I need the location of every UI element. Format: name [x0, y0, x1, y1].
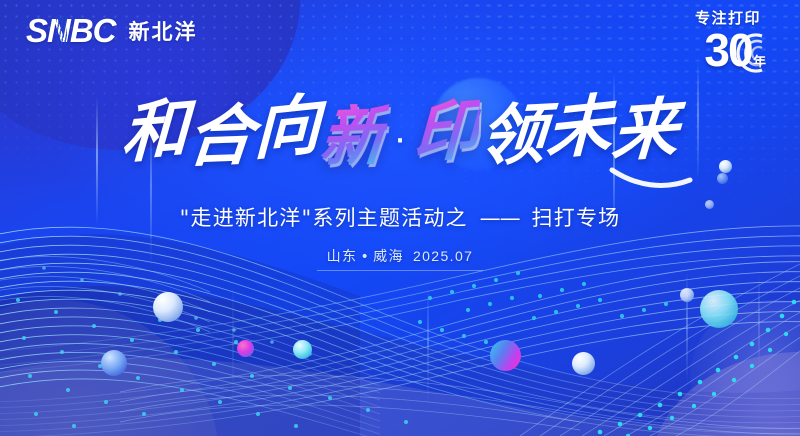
headline-char: 合 [184, 103, 256, 171]
light-beam [427, 288, 429, 408]
headline-separator-dot: · [393, 116, 406, 161]
event-dateline: 山东•威海2025.07 [0, 246, 800, 271]
corner-glow-bottom-right [650, 352, 800, 436]
logo-wordmark: SNBC [26, 14, 116, 47]
promotional-banner: SNBC 新北洋 专注打印 30 年 和 合 向 新 · 印 领 未 来 "走进… [0, 0, 800, 436]
headline-char: 未 [545, 92, 613, 165]
headline-char-accent: 新 [317, 103, 389, 171]
dateline-inner: 山东•威海2025.07 [317, 246, 484, 271]
subtitle-part-one: "走进新北洋"系列主题活动之 [180, 206, 468, 230]
floating-sphere [572, 352, 595, 375]
floating-sphere [101, 350, 127, 376]
headline-char: 向 [254, 92, 322, 165]
floating-sphere [153, 292, 183, 322]
floating-sphere [680, 288, 694, 302]
headline-char: 和 [120, 96, 189, 168]
light-beam [686, 272, 688, 382]
light-beam [758, 276, 760, 376]
headline-char: 领 [477, 101, 548, 170]
headline: 和 合 向 新 · 印 领 未 来 [0, 96, 800, 169]
floating-sphere [717, 173, 728, 184]
subtitle-part-two: 扫打专场 [532, 206, 621, 230]
anniversary-badge: 专注打印 30 年 [676, 10, 780, 72]
snbc-logo[interactable]: SNBC 新北洋 [26, 14, 198, 47]
floating-sphere [293, 340, 312, 359]
subtitle: "走进新北洋"系列主题活动之 —— 扫打专场 [0, 202, 800, 232]
corner-glow-bottom-left [0, 300, 220, 436]
glow-right-mid [690, 300, 800, 436]
dateline-separator: • [360, 249, 370, 265]
logo-chinese-name: 新北洋 [129, 16, 198, 46]
badge-number-group: 30 年 [676, 28, 780, 72]
floating-sphere [700, 290, 738, 328]
subtitle-dash: —— [480, 206, 520, 230]
event-date: 2025.07 [413, 248, 473, 264]
headline-char-accent: 印 [412, 96, 481, 168]
event-city: 威海 [373, 249, 404, 265]
event-province: 山东 [327, 249, 358, 265]
logo-wordmark-text: SNBC [26, 12, 116, 49]
light-beam [232, 286, 234, 406]
headline-char: 来 [610, 96, 680, 166]
floating-sphere [237, 340, 254, 357]
floating-sphere [490, 340, 521, 371]
badge-year-char: 年 [753, 51, 766, 70]
